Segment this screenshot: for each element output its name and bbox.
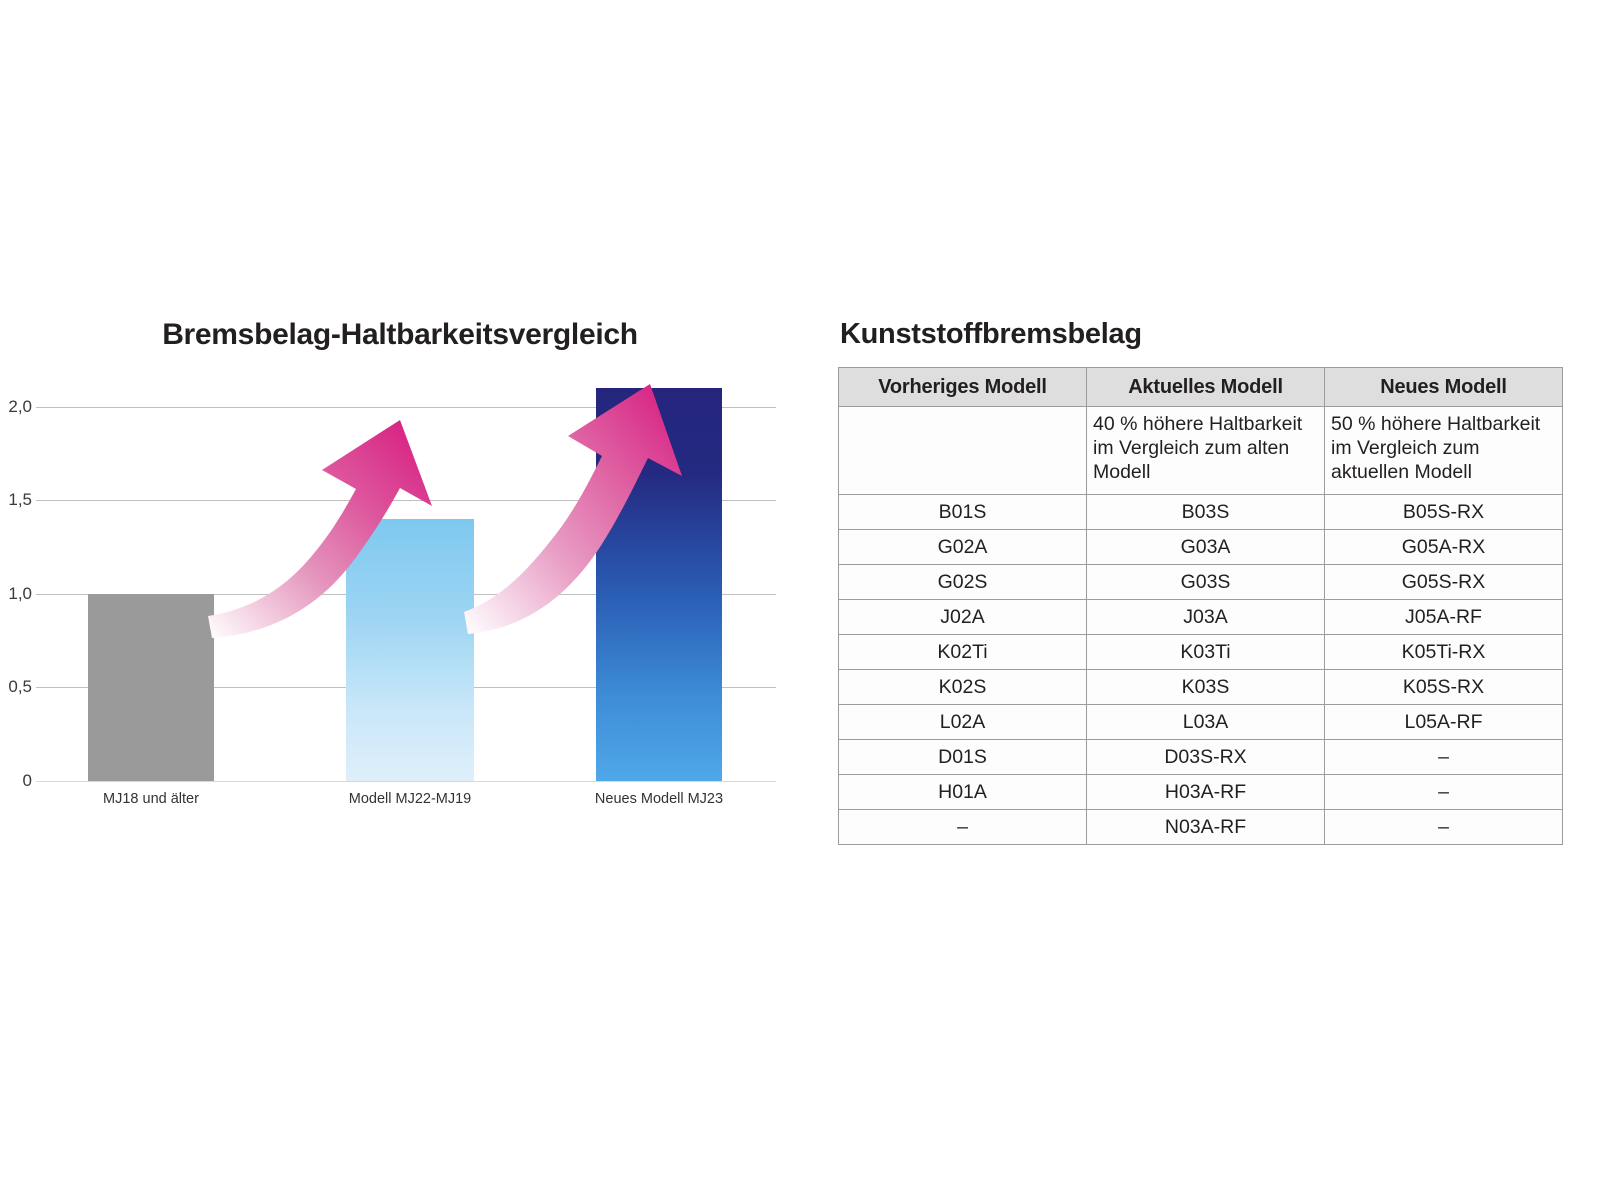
x-label-mj18-und-aelter: MJ18 und älter [66,791,236,807]
model-comparison-table: Vorheriges Modell Aktuelles Modell Neues… [838,367,1563,845]
cell-new-model: K05S-RX [1325,670,1563,705]
cell-new-model: G05S-RX [1325,565,1563,600]
cell-current-model: K03S [1087,670,1325,705]
table-body: 40 % höhere Haltbarkeit im Vergleich zum… [839,407,1563,845]
table-row: G02AG03AG05A-RX [839,530,1563,565]
cell-new-model: – [1325,740,1563,775]
cell-current-model: J03A [1087,600,1325,635]
plastic-brake-pad-table-panel: Kunststoffbremsbelag Vorheriges Modell A… [838,318,1562,845]
cell-current-model: B03S [1087,495,1325,530]
table-row: D01SD03S-RX– [839,740,1563,775]
cell-current-model: G03A [1087,530,1325,565]
table-row: H01AH03A-RF– [839,775,1563,810]
cell-current-model: H03A-RF [1087,775,1325,810]
y-tick-label-0: 0 [0,771,32,791]
cell-previous-model: – [839,810,1087,845]
durability-chart-panel: Bremsbelag-Haltbarkeitsvergleich 2,0 1,5… [0,318,800,828]
cell-current-model: L03A [1087,705,1325,740]
table-note-row: 40 % höhere Haltbarkeit im Vergleich zum… [839,407,1563,495]
bar-mj18-und-aelter [88,594,214,781]
cell-previous-model: K02S [839,670,1087,705]
chart-title: Bremsbelag-Haltbarkeitsvergleich [0,318,800,352]
table-row: K02SK03SK05S-RX [839,670,1563,705]
cell-current-model: D03S-RX [1087,740,1325,775]
cell-new-model: B05S-RX [1325,495,1563,530]
table-row: J02AJ03AJ05A-RF [839,600,1563,635]
y-tick-label-1-0: 1,0 [0,584,32,604]
column-header-current-model: Aktuelles Modell [1087,368,1325,407]
bar-modell-mj22-mj19 [346,519,474,781]
cell-new-model: – [1325,810,1563,845]
note-cell-new-model: 50 % höhere Haltbarkeit im Vergleich zum… [1325,407,1563,495]
table-row: G02SG03SG05S-RX [839,565,1563,600]
bar-neues-modell-mj23 [596,388,722,781]
table-row: –N03A-RF– [839,810,1563,845]
cell-previous-model: G02S [839,565,1087,600]
cell-new-model: J05A-RF [1325,600,1563,635]
cell-previous-model: G02A [839,530,1087,565]
cell-previous-model: L02A [839,705,1087,740]
cell-previous-model: D01S [839,740,1087,775]
column-header-new-model: Neues Modell [1325,368,1563,407]
note-cell-current-model: 40 % höhere Haltbarkeit im Vergleich zum… [1087,407,1325,495]
cell-current-model: G03S [1087,565,1325,600]
gridline-0 [36,781,776,782]
table-row: L02AL03AL05A-RF [839,705,1563,740]
x-label-modell-mj22-mj19: Modell MJ22-MJ19 [320,791,500,807]
y-tick-label-1-5: 1,5 [0,490,32,510]
cell-new-model: G05A-RX [1325,530,1563,565]
y-tick-label-0-5: 0,5 [0,677,32,697]
cell-new-model: K05Ti-RX [1325,635,1563,670]
column-header-previous-model: Vorheriges Modell [839,368,1087,407]
cell-previous-model: K02Ti [839,635,1087,670]
cell-previous-model: J02A [839,600,1087,635]
table-header-row: Vorheriges Modell Aktuelles Modell Neues… [839,368,1563,407]
cell-previous-model: H01A [839,775,1087,810]
cell-new-model: – [1325,775,1563,810]
table-title: Kunststoffbremsbelag [840,318,1562,351]
cell-new-model: L05A-RF [1325,705,1563,740]
table-row: B01SB03SB05S-RX [839,495,1563,530]
infographic-page: Bremsbelag-Haltbarkeitsvergleich 2,0 1,5… [0,0,1600,1200]
cell-current-model: K03Ti [1087,635,1325,670]
note-cell-previous-model [839,407,1087,495]
x-label-neues-modell-mj23: Neues Modell MJ23 [574,791,744,807]
table-row: K02TiK03TiK05Ti-RX [839,635,1563,670]
y-tick-label-2-0: 2,0 [0,397,32,417]
cell-previous-model: B01S [839,495,1087,530]
chart-plot-area: 2,0 1,5 1,0 0,5 0 MJ18 und älter Modell … [36,378,776,788]
cell-current-model: N03A-RF [1087,810,1325,845]
